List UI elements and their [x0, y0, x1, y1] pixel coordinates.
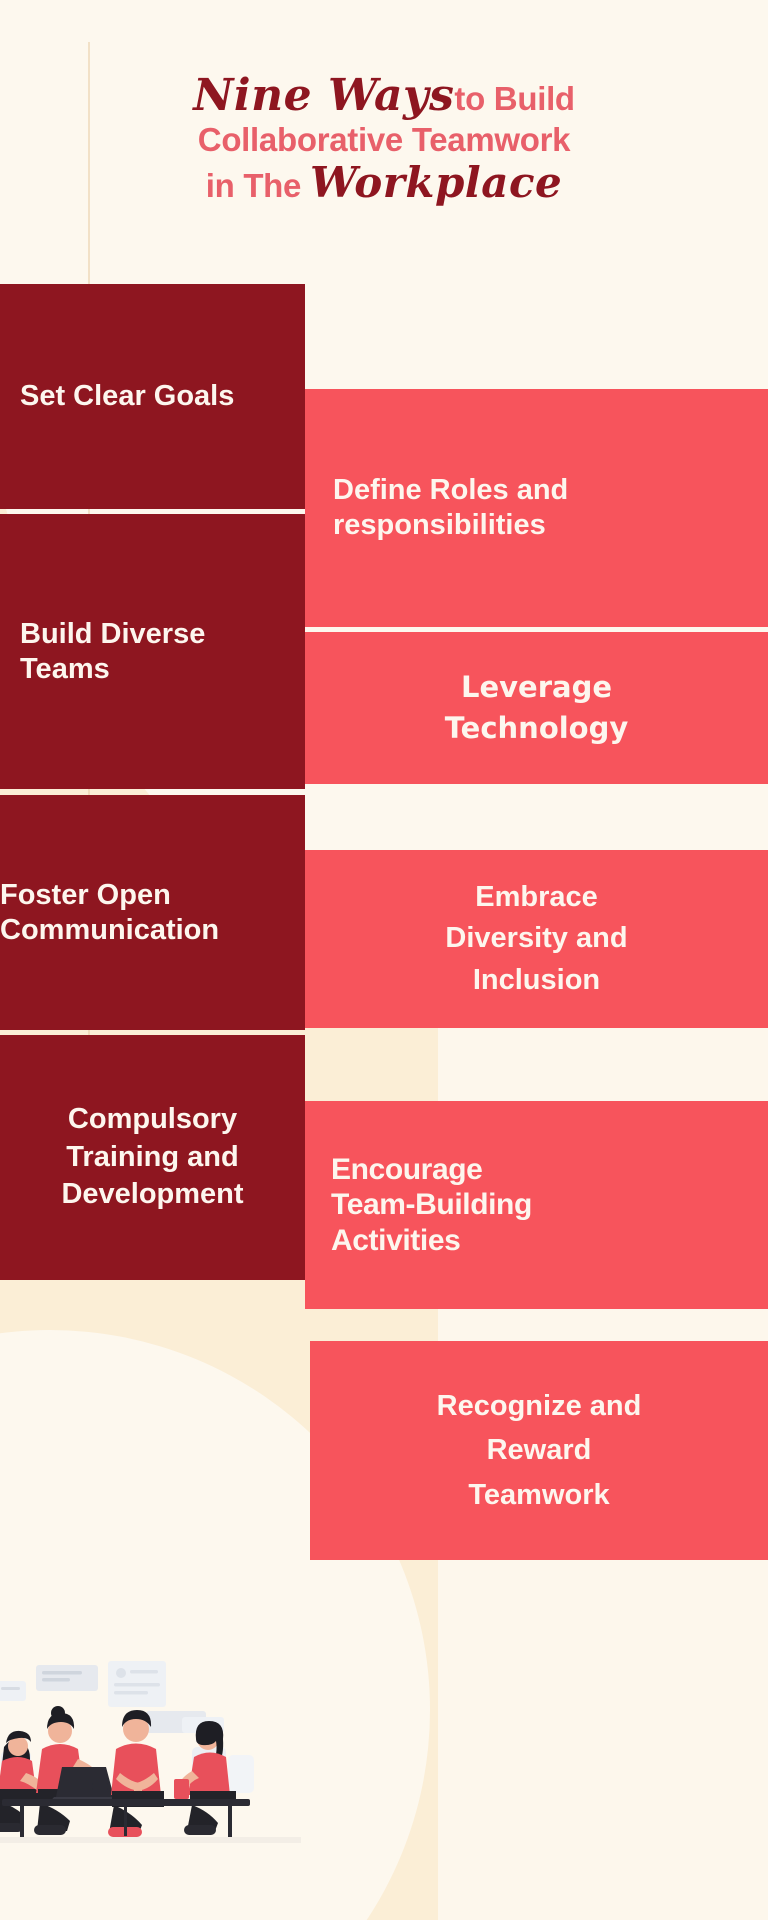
card-foster-open-communication[interactable]: Foster Open Communication: [0, 795, 305, 1030]
card-line: Leverage: [461, 667, 612, 708]
title-script-nine-ways: Nine Ways: [193, 70, 454, 121]
infographic-canvas: Nine Waysto Build Collaborative Teamwork…: [0, 0, 768, 1920]
card-encourage-team-building[interactable]: Encourage Team-Building Activities: [305, 1101, 768, 1309]
card-line: Teamwork: [468, 1473, 609, 1517]
card-line: Development: [61, 1176, 243, 1214]
title-script-workplace: Workplace: [310, 158, 562, 207]
team-meeting-illustration: [0, 1655, 301, 1843]
card-recognize-reward[interactable]: Recognize and Reward Teamwork: [310, 1341, 768, 1560]
infographic-title: Nine Waysto Build Collaborative Teamwork…: [0, 70, 768, 208]
card-line: Build Diverse: [20, 617, 205, 652]
card-line: Define Roles and: [333, 473, 568, 508]
title-line-3: in The Workplace: [0, 159, 768, 208]
title-bold-in-the: in The: [206, 167, 310, 204]
card-line: Technology: [445, 708, 629, 749]
card-line: Team-Building: [331, 1187, 532, 1222]
card-line: Teams: [20, 652, 110, 687]
illustration-floor: [0, 1837, 301, 1843]
card-line: Communication: [0, 913, 219, 948]
title-line-1: Nine Waysto Build: [0, 70, 768, 121]
card-compulsory-training[interactable]: Compulsory Training and Development: [0, 1035, 305, 1280]
card-build-diverse-teams[interactable]: Build Diverse Teams: [0, 514, 305, 789]
card-leverage-technology[interactable]: Leverage Technology: [305, 632, 768, 784]
card-line: Foster Open: [0, 878, 171, 913]
card-line: Set Clear Goals: [20, 379, 234, 413]
card-line: responsibilities: [333, 508, 546, 543]
card-line: Embrace: [475, 877, 598, 918]
card-line: Inclusion: [473, 960, 600, 1001]
card-line: Training and: [66, 1139, 238, 1177]
title-line-2: Collaborative Teamwork: [0, 121, 768, 159]
card-line: Recognize and: [437, 1384, 642, 1428]
card-embrace-diversity[interactable]: Embrace Diversity and Inclusion: [305, 850, 768, 1028]
illustration-background-panels: [0, 1661, 224, 1733]
title-bold-collaborative-teamwork: Collaborative Teamwork: [198, 121, 570, 158]
illustration-person-4: [178, 1721, 236, 1835]
card-line: Compulsory: [68, 1101, 237, 1139]
card-line: Encourage: [331, 1152, 482, 1187]
card-define-roles[interactable]: Define Roles and responsibilities: [305, 389, 768, 627]
card-set-clear-goals[interactable]: Set Clear Goals: [0, 284, 305, 509]
card-line: Diversity and: [445, 918, 627, 959]
title-bold-to-build: to Build: [454, 80, 574, 117]
card-line: Activities: [331, 1223, 460, 1258]
card-line: Reward: [487, 1428, 592, 1472]
